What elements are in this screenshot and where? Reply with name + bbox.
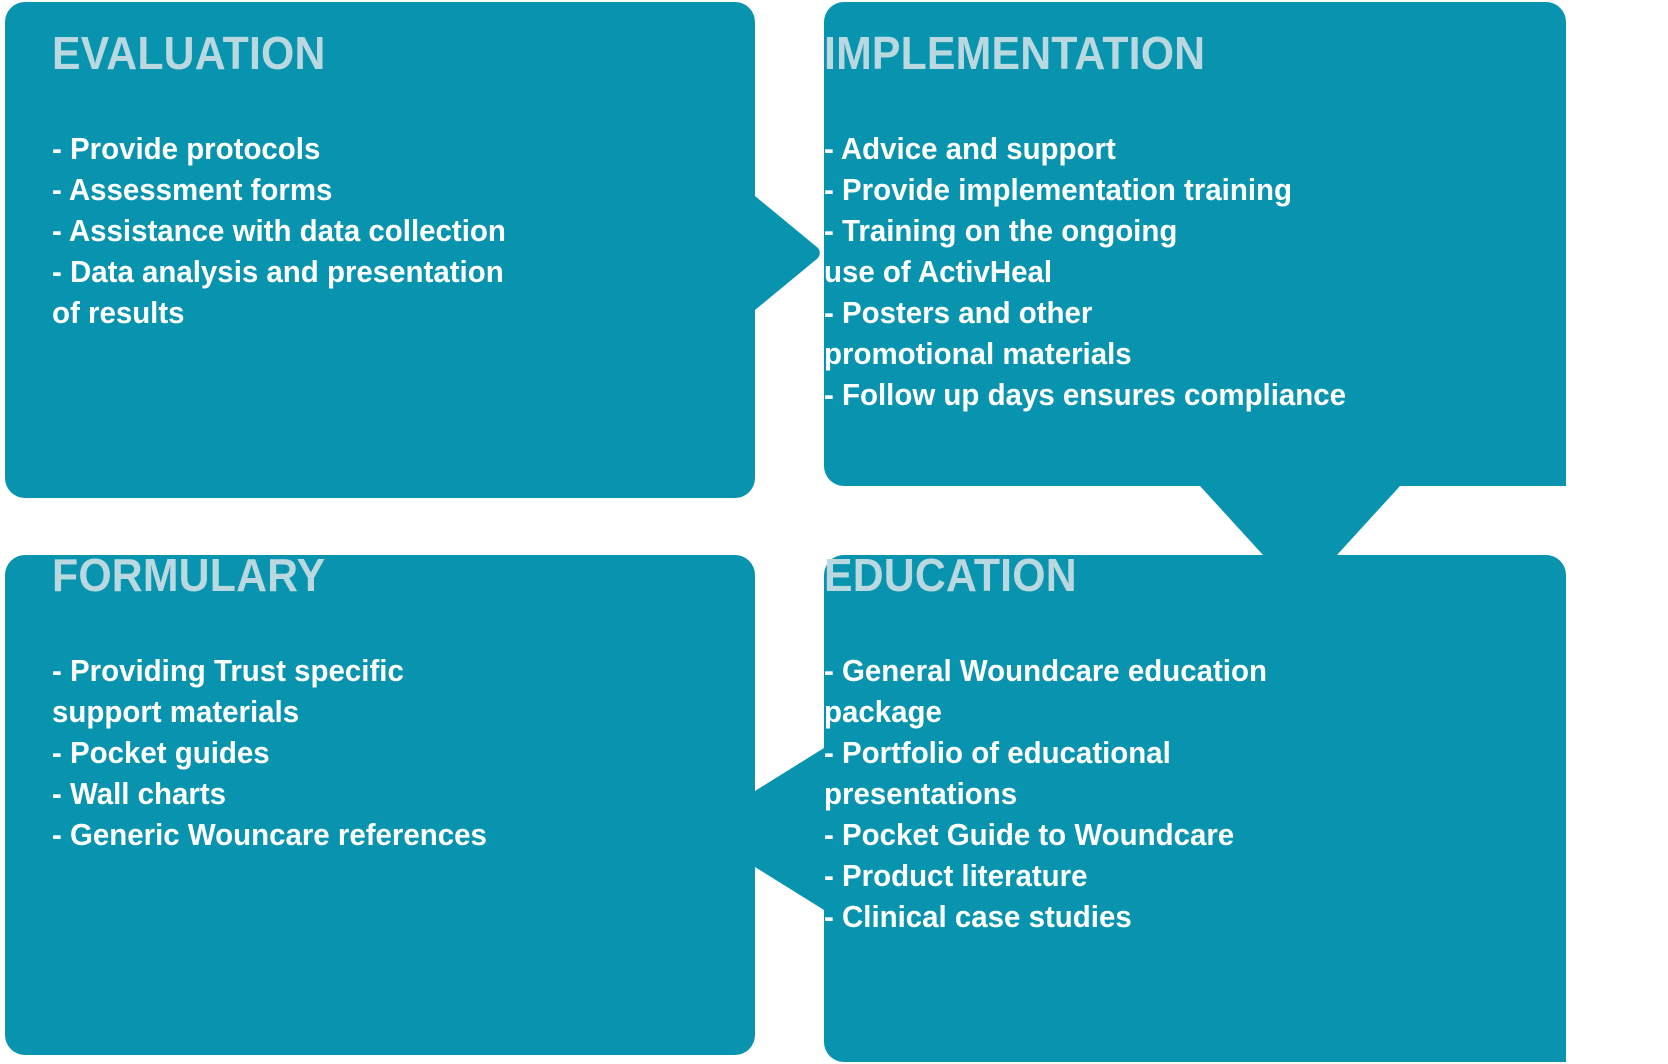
panel-education-list: - General Woundcare education package - … [824, 650, 1290, 937]
list-item: - Posters and other [824, 292, 1346, 333]
panel-implementation-title: IMPLEMENTATION [824, 30, 1335, 76]
list-item: - Portfolio of educational [824, 732, 1267, 773]
list-item: of results [52, 292, 506, 333]
list-item: - Follow up days ensures compliance [824, 374, 1346, 415]
panel-evaluation[interactable]: EVALUATION - Provide protocols - Assessm… [52, 30, 530, 333]
list-item: - General Woundcare education [824, 650, 1267, 691]
panel-formulary-title: FORMULARY [52, 552, 478, 598]
list-item: - Provide implementation training [824, 169, 1346, 210]
panel-formulary-list: - Providing Trust specific support mater… [52, 650, 510, 855]
panel-implementation-list: - Advice and support - Provide implement… [824, 128, 1374, 415]
panel-evaluation-title: EVALUATION [52, 30, 496, 76]
list-item: - Training on the ongoing [824, 210, 1346, 251]
list-item: promotional materials [824, 333, 1346, 374]
list-item: package [824, 691, 1267, 732]
panel-education-title: EDUCATION [824, 552, 1258, 598]
list-item: - Data analysis and presentation [52, 251, 506, 292]
list-item: - Provide protocols [52, 128, 506, 169]
list-item: - Assessment forms [52, 169, 506, 210]
panel-evaluation-list: - Provide protocols - Assessment forms -… [52, 128, 530, 333]
panel-implementation[interactable]: IMPLEMENTATION - Advice and support - Pr… [824, 30, 1374, 415]
panel-education[interactable]: EDUCATION - General Woundcare education … [824, 552, 1290, 937]
list-item: - Providing Trust specific [52, 650, 487, 691]
list-item: - Pocket Guide to Woundcare [824, 814, 1267, 855]
list-item: - Product literature [824, 855, 1267, 896]
list-item: - Generic Wouncare references [52, 814, 487, 855]
list-item: - Advice and support [824, 128, 1346, 169]
list-item: presentations [824, 773, 1267, 814]
panel-formulary[interactable]: FORMULARY - Providing Trust specific sup… [52, 552, 510, 855]
list-item: - Clinical case studies [824, 896, 1267, 937]
diagram-text-layer: EVALUATION - Provide protocols - Assessm… [0, 0, 1668, 1064]
list-item: - Pocket guides [52, 732, 487, 773]
list-item: support materials [52, 691, 487, 732]
list-item: - Wall charts [52, 773, 487, 814]
diagram-canvas: EVALUATION - Provide protocols - Assessm… [0, 0, 1668, 1064]
list-item: use of ActivHeal [824, 251, 1346, 292]
list-item: - Assistance with data collection [52, 210, 506, 251]
